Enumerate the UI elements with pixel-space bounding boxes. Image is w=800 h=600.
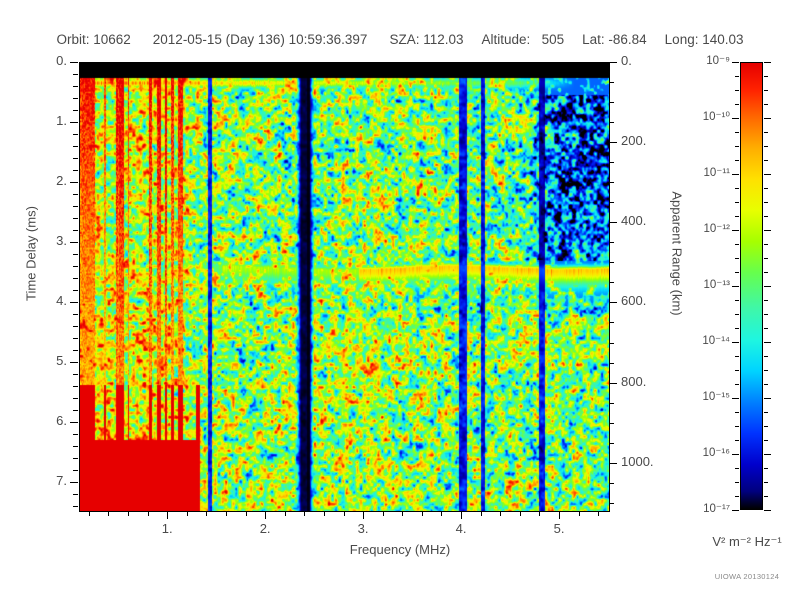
colorbar-tick	[735, 90, 739, 91]
y-left-tick	[73, 230, 78, 231]
colorbar-tick	[735, 426, 739, 427]
colorbar-tick	[764, 118, 771, 119]
x-tick	[324, 511, 325, 516]
x-tick	[285, 511, 286, 516]
colorbar-tick-label: 10⁻¹³	[684, 277, 730, 291]
y-left-tick-label: 1.	[15, 113, 67, 128]
colorbar-tick	[735, 258, 739, 259]
y-right-tick	[609, 443, 614, 444]
colorbar-tick	[732, 342, 739, 343]
colorbar-tick	[764, 76, 768, 77]
colorbar-tick	[735, 468, 739, 469]
y-left-tick	[73, 398, 78, 399]
colorbar-tick	[735, 160, 739, 161]
y-left-tick	[73, 410, 78, 411]
y-right-tick	[609, 182, 614, 183]
x-tick-label: 1.	[147, 521, 187, 536]
y-right-tick	[609, 102, 614, 103]
y-right-tick	[609, 322, 614, 323]
colorbar-tick	[735, 132, 739, 133]
x-tick	[148, 511, 149, 516]
y-right-tick	[609, 343, 614, 344]
lat-label: Lat:	[582, 32, 605, 47]
altitude-label: Altitude:	[482, 32, 531, 47]
colorbar-tick	[764, 146, 768, 147]
y-left-tick	[70, 362, 78, 363]
y-left-tick	[73, 494, 78, 495]
sza-label: SZA:	[389, 32, 419, 47]
colorbar-tick-label: 10⁻¹¹	[684, 165, 730, 179]
x-tick-label: 4.	[441, 521, 481, 536]
colorbar-tick	[735, 328, 739, 329]
colorbar-tick	[735, 202, 739, 203]
colorbar-tick	[764, 412, 768, 413]
colorbar-tick	[735, 76, 739, 77]
colorbar-tick-label: 10⁻¹⁶	[684, 445, 730, 459]
y-left-tick	[70, 242, 78, 243]
colorbar-tick-label: 10⁻¹⁵	[684, 389, 730, 403]
y-left-tick	[70, 422, 78, 423]
long-value: 140.03	[702, 32, 743, 47]
y-left-tick-label: 6.	[15, 413, 67, 428]
y-left-tick	[73, 314, 78, 315]
y-left-tick	[73, 86, 78, 87]
y-left-tick-label: 0.	[15, 53, 67, 68]
colorbar-tick	[764, 496, 768, 497]
x-tick	[206, 511, 207, 516]
colorbar-tick	[764, 370, 768, 371]
x-tick	[579, 511, 580, 516]
y-axis-right-label: Apparent Range (km)	[670, 174, 685, 334]
y-left-tick	[73, 98, 78, 99]
colorbar-tick	[764, 286, 771, 287]
colorbar-tick	[764, 342, 771, 343]
colorbar-tick	[732, 62, 739, 63]
colorbar-tick	[735, 300, 739, 301]
y-right-tick	[609, 202, 614, 203]
colorbar-tick	[764, 454, 771, 455]
y-left-tick	[73, 446, 78, 447]
colorbar-tick	[735, 370, 739, 371]
y-left-tick	[73, 134, 78, 135]
sza-value: 112.03	[423, 32, 463, 47]
y-right-tick	[609, 403, 614, 404]
y-left-tick	[73, 170, 78, 171]
colorbar-tick	[764, 300, 768, 301]
x-tick	[539, 511, 540, 516]
y-right-tick-label: 800.	[621, 374, 677, 389]
y-left-tick	[73, 350, 78, 351]
lat-value: -86.84	[608, 32, 646, 47]
y-left-tick-label: 5.	[15, 353, 67, 368]
colorbar-tick-label: 10⁻¹⁰	[684, 109, 730, 123]
colorbar-tick	[732, 398, 739, 399]
x-tick	[500, 511, 501, 516]
x-tick-label: 2.	[245, 521, 285, 536]
y-right-tick	[609, 262, 614, 263]
colorbar-tick	[735, 146, 739, 147]
x-tick	[108, 511, 109, 516]
orbit-value: 10662	[93, 32, 131, 47]
y-right-tick	[609, 383, 617, 384]
colorbar-tick-label: 10⁻¹²	[684, 221, 730, 235]
colorbar-tick	[764, 90, 768, 91]
colorbar-tick	[735, 384, 739, 385]
colorbar-tick	[732, 454, 739, 455]
colorbar-wrap	[740, 62, 763, 510]
colorbar-tick	[764, 244, 768, 245]
y-axis-left-label: Time Delay (ms)	[24, 194, 39, 314]
colorbar-tick	[764, 328, 768, 329]
long-label: Long:	[665, 32, 699, 47]
x-tick	[441, 511, 442, 516]
colorbar-tick	[732, 510, 739, 511]
y-left-tick	[73, 506, 78, 507]
x-tick	[226, 511, 227, 516]
radargram-plot-area	[79, 62, 610, 512]
x-tick	[481, 511, 482, 516]
y-left-tick	[73, 218, 78, 219]
colorbar-tick	[735, 104, 739, 105]
x-axis-label: Frequency (MHz)	[0, 542, 800, 557]
credit-text: UIOWA 20130124	[694, 572, 800, 581]
x-tick	[559, 511, 560, 519]
colorbar-tick	[735, 314, 739, 315]
y-right-tick	[609, 222, 617, 223]
colorbar-tick-label: 10⁻⁹	[684, 53, 730, 67]
y-left-tick	[73, 338, 78, 339]
y-right-tick-label: 0.	[621, 53, 677, 68]
x-tick-label: 5.	[539, 521, 579, 536]
x-tick	[167, 511, 168, 519]
x-tick	[344, 511, 345, 516]
x-tick	[422, 511, 423, 516]
x-tick	[598, 511, 599, 516]
y-left-tick	[73, 206, 78, 207]
y-right-tick	[609, 463, 617, 464]
colorbar-tick	[735, 244, 739, 245]
y-left-tick	[73, 290, 78, 291]
colorbar-tick	[764, 440, 768, 441]
y-right-tick	[609, 302, 617, 303]
colorbar-tick	[732, 230, 739, 231]
y-right-tick	[609, 242, 614, 243]
y-left-tick-label: 7.	[15, 473, 67, 488]
colorbar-tick	[735, 188, 739, 189]
header-metadata: Orbit: 10662 2012-05-15 (Day 136) 10:59:…	[0, 29, 800, 49]
x-tick	[304, 511, 305, 516]
y-right-tick	[609, 363, 614, 364]
colorbar-tick	[735, 412, 739, 413]
y-right-tick-label: 1000.	[621, 454, 677, 469]
y-right-tick	[609, 122, 614, 123]
sza-field: SZA: 112.03	[389, 32, 463, 47]
colorbar-tick	[735, 440, 739, 441]
colorbar-tick	[764, 230, 771, 231]
colorbar-tick-label: 10⁻¹⁷	[684, 501, 730, 515]
orbit-label: Orbit:	[56, 32, 89, 47]
y-left-tick	[70, 62, 78, 63]
y-left-tick	[70, 122, 78, 123]
y-right-tick	[609, 503, 614, 504]
colorbar-tick	[764, 356, 768, 357]
y-left-tick	[73, 266, 78, 267]
x-tick	[187, 511, 188, 516]
y-left-tick	[73, 146, 78, 147]
x-tick-label: 3.	[343, 521, 383, 536]
colorbar-tick	[764, 384, 768, 385]
x-tick	[128, 511, 129, 516]
y-right-tick-label: 200.	[621, 133, 677, 148]
orbit-field: Orbit: 10662	[56, 32, 130, 47]
x-tick	[265, 511, 266, 519]
y-left-tick	[70, 482, 78, 483]
y-left-tick	[73, 434, 78, 435]
y-right-tick	[609, 142, 617, 143]
colorbar-tick	[735, 216, 739, 217]
colorbar-tick	[764, 160, 768, 161]
colorbar-tick	[735, 482, 739, 483]
x-tick	[402, 511, 403, 516]
x-tick	[363, 511, 364, 519]
y-left-tick	[73, 74, 78, 75]
x-tick	[246, 511, 247, 516]
colorbar-tick	[764, 104, 768, 105]
colorbar-tick	[764, 482, 768, 483]
y-right-tick	[609, 82, 614, 83]
colorbar-tick	[764, 132, 768, 133]
x-tick	[383, 511, 384, 516]
altitude-field: Altitude: 505	[482, 32, 565, 47]
y-right-tick	[609, 62, 617, 63]
y-left-tick-label: 2.	[15, 173, 67, 188]
colorbar-tick	[732, 286, 739, 287]
colorbar-tick	[764, 398, 771, 399]
y-left-tick	[73, 254, 78, 255]
datetime-field: 2012-05-15 (Day 136) 10:59:36.397	[153, 32, 368, 47]
x-tick	[89, 511, 90, 516]
y-left-tick	[73, 278, 78, 279]
y-left-tick	[70, 182, 78, 183]
lat-field: Lat: -86.84	[582, 32, 647, 47]
y-right-tick	[609, 282, 614, 283]
colorbar-tick	[764, 202, 768, 203]
y-right-tick	[609, 162, 614, 163]
colorbar-tick	[735, 272, 739, 273]
colorbar-tick	[764, 510, 771, 511]
y-left-tick	[73, 110, 78, 111]
colorbar-tick	[764, 216, 768, 217]
colorbar-tick	[764, 174, 771, 175]
y-left-tick	[73, 326, 78, 327]
radargram-heatmap	[80, 63, 609, 511]
colorbar-tick	[764, 62, 771, 63]
colorbar-tick	[735, 496, 739, 497]
y-right-tick	[609, 483, 614, 484]
long-field: Long: 140.03	[665, 32, 744, 47]
colorbar-tick	[764, 426, 768, 427]
y-right-tick	[609, 423, 614, 424]
colorbar-tick	[735, 356, 739, 357]
colorbar-tick	[764, 188, 768, 189]
colorbar-tick	[764, 314, 768, 315]
colorbar-units-label: V² m⁻² Hz⁻¹	[694, 534, 800, 550]
colorbar-gradient	[740, 62, 763, 510]
x-tick	[461, 511, 462, 519]
colorbar-tick	[764, 272, 768, 273]
y-left-tick	[73, 194, 78, 195]
colorbar-tick	[732, 118, 739, 119]
y-left-tick	[73, 158, 78, 159]
y-left-tick	[73, 458, 78, 459]
y-left-tick	[73, 470, 78, 471]
y-left-tick	[70, 302, 78, 303]
y-left-tick	[73, 386, 78, 387]
altitude-value: 505	[542, 32, 565, 47]
x-tick	[520, 511, 521, 516]
colorbar-tick-label: 10⁻¹⁴	[684, 333, 730, 347]
y-left-tick	[73, 374, 78, 375]
colorbar-tick	[764, 468, 768, 469]
colorbar-tick	[764, 258, 768, 259]
colorbar-tick	[732, 174, 739, 175]
